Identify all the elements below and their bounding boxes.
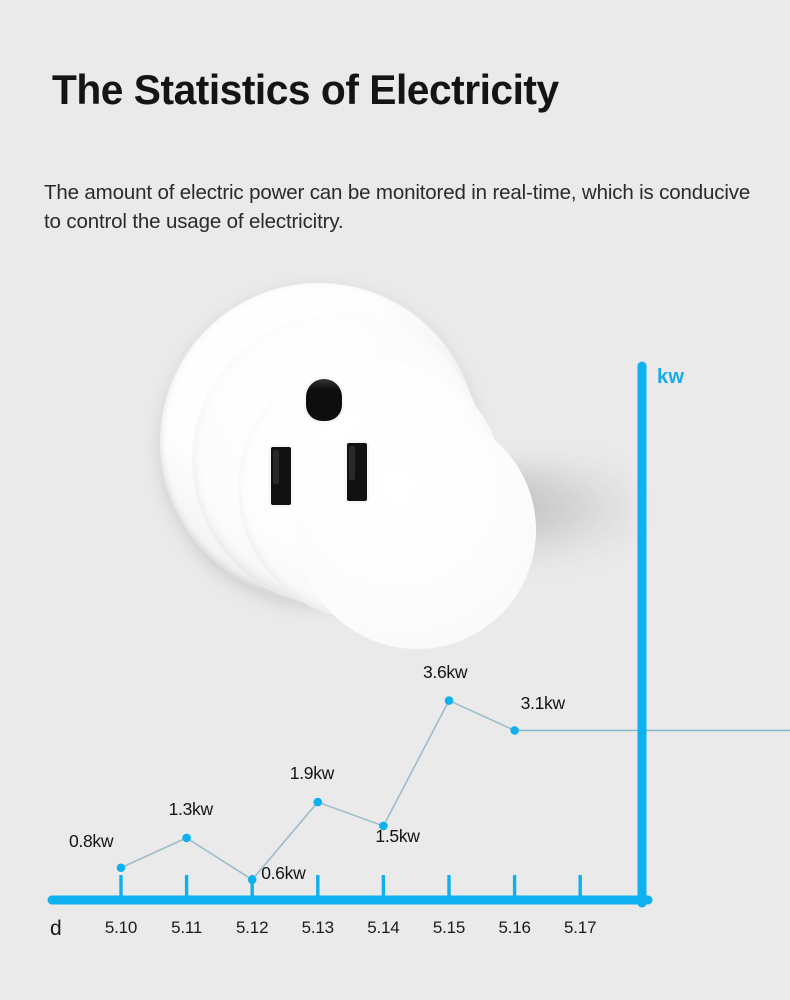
point-label-5.15: 3.6kw <box>423 662 467 683</box>
smart-plug-photo <box>140 265 660 625</box>
x-tick-label-5.16: 5.16 <box>480 918 550 938</box>
x-tick-label-5.15: 5.15 <box>414 918 484 938</box>
y-axis-title: kw <box>657 366 684 389</box>
page-title: The Statistics of Electricity <box>52 68 559 112</box>
chart-series-line <box>121 701 515 880</box>
poster-page: The Statistics of Electricity The amount… <box>0 0 790 1000</box>
point-label-5.12: 0.6kw <box>261 863 305 884</box>
point-label-5.14: 1.5kw <box>375 826 419 847</box>
page-subtitle: The amount of electric power can be moni… <box>44 178 754 236</box>
x-tick-label-5.11: 5.11 <box>152 918 222 938</box>
point-label-5.11: 1.3kw <box>169 799 213 820</box>
x-tick-label-5.17: 5.17 <box>545 918 615 938</box>
x-tick-label-5.12: 5.12 <box>217 918 287 938</box>
chart-data-points <box>117 696 519 884</box>
point-label-5.10: 0.8kw <box>69 831 113 852</box>
x-tick-label-5.14: 5.14 <box>348 918 418 938</box>
socket-right-slot-icon <box>347 443 367 501</box>
data-point-5.13 <box>314 798 323 807</box>
point-label-5.16: 3.1kw <box>521 693 565 714</box>
socket-ground-hole-icon <box>306 379 342 421</box>
data-point-5.15 <box>445 696 454 705</box>
data-point-5.16 <box>510 726 519 735</box>
plug-inner-ring <box>192 313 486 607</box>
x-tick-label-5.13: 5.13 <box>283 918 353 938</box>
plug-outer-ring <box>160 283 478 601</box>
data-point-5.11 <box>182 834 191 843</box>
plug-face-inner <box>298 411 536 649</box>
x-tick-label-5.10: 5.10 <box>86 918 156 938</box>
data-point-5.10 <box>117 863 126 872</box>
chart-x-ticks <box>121 875 580 896</box>
x-axis-title: d <box>50 917 62 941</box>
data-point-5.12 <box>248 875 257 884</box>
point-label-5.13: 1.9kw <box>290 763 334 784</box>
socket-left-slot-icon <box>271 447 291 505</box>
